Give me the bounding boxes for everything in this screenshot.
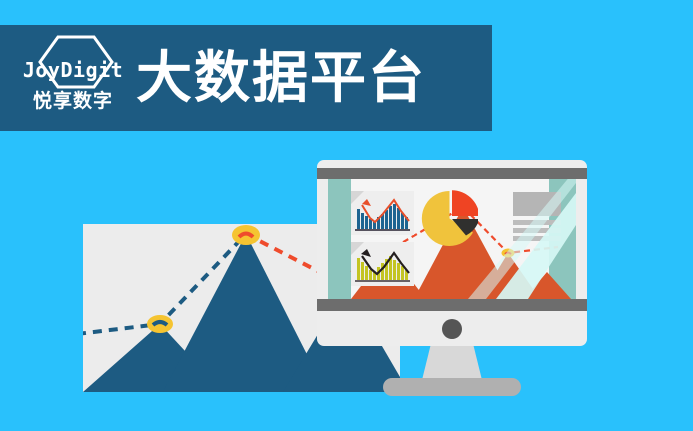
logo-subtitle: 悦享数字 [33, 92, 113, 111]
desktop-monitor [317, 160, 587, 392]
placeholder-image [513, 192, 561, 216]
mountain-shape [524, 272, 571, 299]
pie-chart [421, 190, 478, 247]
logo: JoyDigit 悦享数字 [14, 33, 132, 123]
pie-slice-red [452, 190, 478, 216]
monitor-power-dot [442, 319, 462, 339]
bar-chart-card-yellow [351, 242, 414, 286]
bar-chart-blue [351, 191, 414, 235]
logo-wordmark: JoyDigit [23, 60, 123, 80]
illustration-canvas: JoyDigit 悦享数字 大数据平台 [0, 0, 693, 431]
page-title: 大数据平台 [136, 50, 426, 106]
monitor-base [383, 378, 521, 396]
header-banner: JoyDigit 悦享数字 大数据平台 [0, 25, 492, 131]
placeholder-line [513, 220, 561, 225]
placeholder-line [513, 236, 561, 241]
monitor-screen [328, 179, 576, 299]
monitor-stand [422, 346, 482, 380]
bar-chart-yellow [351, 242, 414, 286]
arrow-head [362, 199, 371, 206]
monitor-top-bar [317, 168, 587, 179]
data-point-marker [232, 225, 260, 245]
data-point-marker [147, 315, 173, 333]
placeholder-line [513, 228, 561, 233]
data-point-marker [502, 249, 515, 258]
bar-chart-card-blue [351, 191, 414, 235]
monitor-bottom-bar [317, 299, 587, 311]
